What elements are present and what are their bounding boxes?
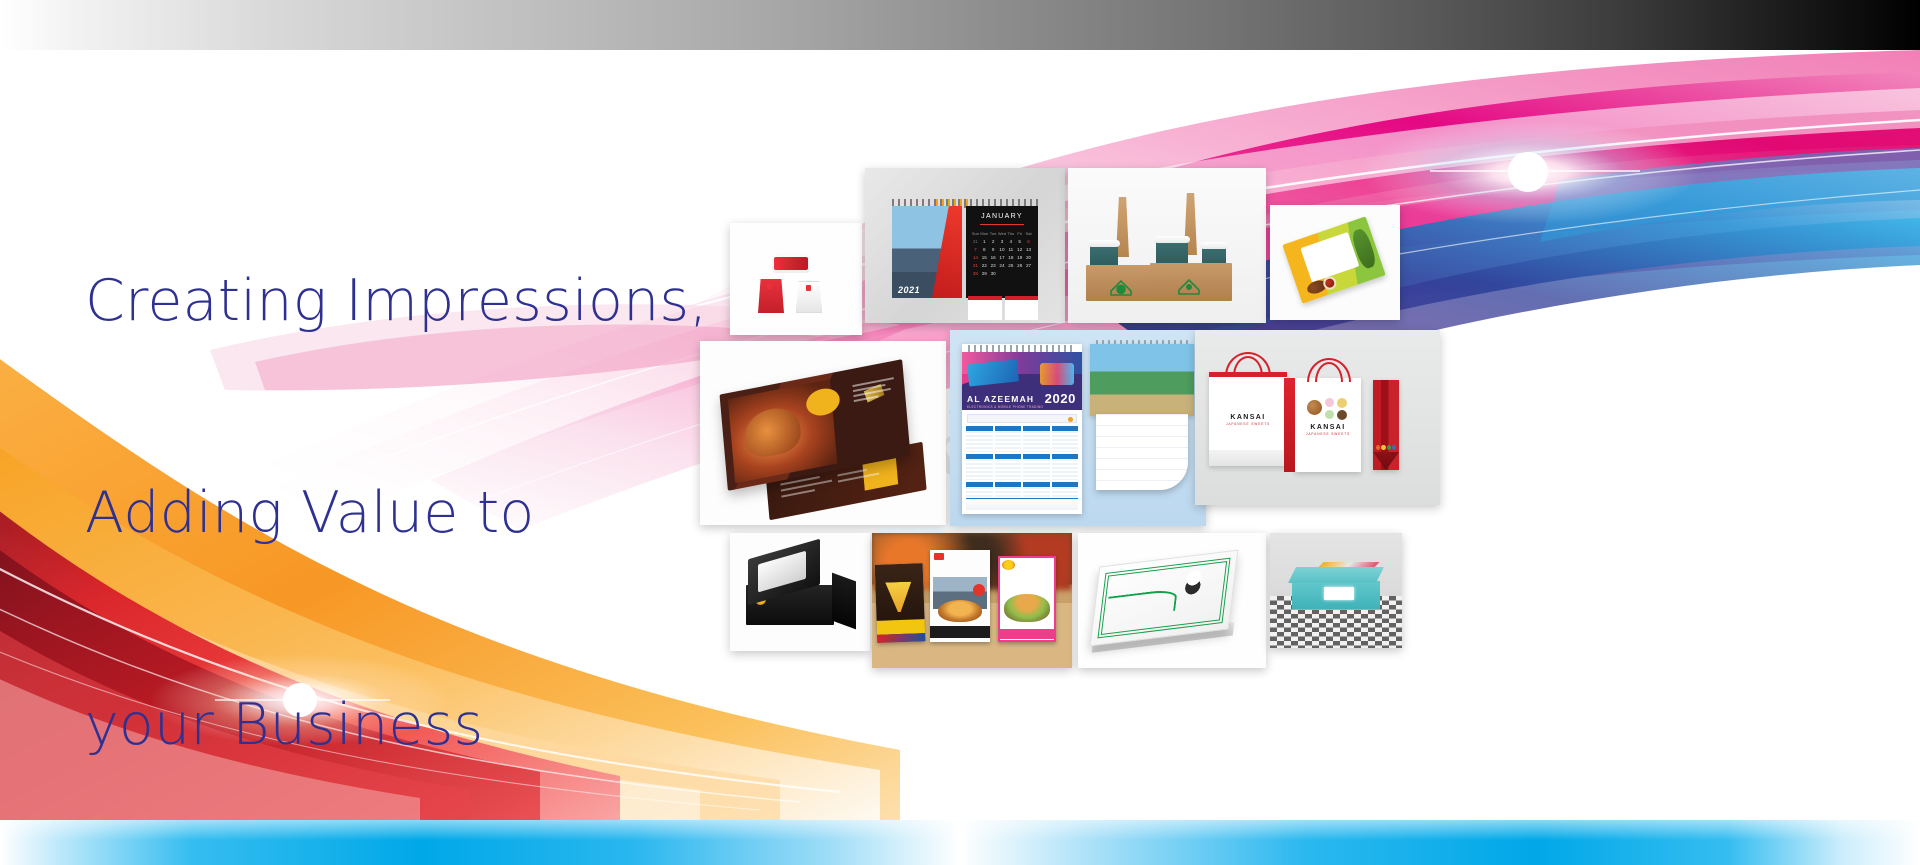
- desk-calendar-day: 31: [971, 238, 980, 245]
- wall-calendar-month-cell: [1052, 454, 1079, 480]
- desk-calendar-day: 3: [998, 238, 1007, 245]
- collage-item-cake-box[interactable]: [1270, 533, 1402, 648]
- collage-item-pizza-box[interactable]: [1078, 533, 1266, 668]
- bag-tagline-2: JAPANESE SWEETS: [1295, 432, 1361, 436]
- headline-line-2: Adding Value to: [85, 478, 708, 549]
- collage-item-wall-calendar[interactable]: AL AZEEMAH ELECTRONICS & MOBILE PHONE TR…: [950, 330, 1206, 526]
- wall-calendar-month-grid: [966, 426, 1078, 508]
- bag-tagline-1: JAPANESE SWEETS: [1209, 422, 1287, 426]
- desk-calendar-year: 2021: [898, 285, 920, 295]
- bag-brand-2: KANSAI: [1295, 424, 1361, 431]
- desk-calendar-divider: [980, 224, 1024, 225]
- desk-calendar-day: 22: [980, 262, 989, 269]
- desk-calendar-mini-months: [968, 296, 1038, 320]
- product-portfolio-collage: 2021 JANUARY SunMonTueWedThuFriSat311234…: [700, 155, 1460, 655]
- wall-calendar-month-dates: [1052, 459, 1079, 480]
- collage-item-table-tents[interactable]: WINTER ALLEGIANT REBEL AGAINST THE ORDIN…: [872, 533, 1072, 668]
- wall-calendar-month-cell: [995, 454, 1022, 480]
- desk-calendar-date-grid: SunMonTueWedThuFriSat3112345678910111213…: [971, 230, 1033, 277]
- wall-calendar-month-cell: [1023, 426, 1050, 452]
- collage-item-noodle-box[interactable]: [730, 223, 862, 335]
- desk-calendar-day: 1: [980, 238, 989, 245]
- desk-calendar-day: 2: [989, 238, 998, 245]
- collage-item-food-menu-box[interactable]: [700, 341, 946, 525]
- desk-calendar-month-label: JANUARY: [966, 213, 1038, 220]
- desk-calendar-day: 8: [980, 246, 989, 253]
- desk-calendar-day: 27: [1024, 262, 1033, 269]
- cake-box-label: [1324, 587, 1354, 600]
- black-window-box-artwork: [730, 533, 870, 651]
- cake-box-lid: [1288, 567, 1384, 583]
- desk-calendar-artwork: 2021 JANUARY SunMonTueWedThuFriSat311234…: [865, 168, 1065, 323]
- noodle-box-icon-white: [806, 285, 811, 291]
- wall-calendar-artwork: AL AZEEMAH ELECTRONICS & MOBILE PHONE TR…: [950, 330, 1206, 526]
- wall-calendar-month-dates: [966, 459, 993, 480]
- wall-calendar-header-art: AL AZEEMAH ELECTRONICS & MOBILE PHONE TR…: [962, 352, 1082, 410]
- wall-calendar-contact-bar: [967, 414, 1077, 423]
- collage-item-shopping-bags[interactable]: KANSAI JAPANESE SWEETS KANSAI: [1195, 330, 1440, 505]
- collage-item-window-food-box[interactable]: [1270, 205, 1400, 320]
- window-food-box-window: [1300, 232, 1359, 282]
- pizza-box-artwork: [1078, 533, 1266, 668]
- bag-sweet-icon-2: [1325, 398, 1334, 407]
- wall-calendar-brand: AL AZEEMAH: [967, 394, 1034, 404]
- desk-calendar-day: 14: [971, 254, 980, 261]
- food-menu-box-copy-lines: [852, 377, 895, 405]
- wall-calendar-month-cell: [1052, 426, 1079, 452]
- desk-calendar-day: 19: [1015, 254, 1024, 261]
- desk-calendar-day: 16: [989, 254, 998, 261]
- desk-calendar-day: 26: [1015, 262, 1024, 269]
- shopping-bag-gusset: [1373, 380, 1399, 470]
- desk-calendar-weekday: Thu: [1006, 230, 1015, 237]
- desk-calendar-day: 9: [989, 246, 998, 253]
- desk-calendar-day: 17: [998, 254, 1007, 261]
- shopping-bags-artwork: KANSAI JAPANESE SWEETS KANSAI: [1195, 330, 1440, 505]
- desk-calendar-weekday: Sat: [1024, 230, 1033, 237]
- noodle-box-label-band: [774, 257, 808, 270]
- shopping-bag-3d: KANSAI JAPANESE SWEETS: [1295, 378, 1361, 472]
- bag-sweet-icon-3: [1337, 398, 1347, 408]
- window-food-box-artwork: [1270, 205, 1400, 320]
- food-menu-box-artwork: [700, 341, 946, 525]
- window-food-box-shape: [1282, 216, 1385, 303]
- desk-calendar-weekday: Tue: [989, 230, 998, 237]
- shopping-bag-logo-1: KANSAI JAPANESE SWEETS: [1209, 414, 1287, 426]
- desk-calendar-weekday: Sun: [971, 230, 980, 237]
- bag-sweet-icon-4: [1325, 410, 1334, 419]
- scenic-calendar-photo: [1090, 344, 1194, 416]
- cake-box-ribbon: [1319, 562, 1380, 567]
- table-tents-artwork: WINTER ALLEGIANT REBEL AGAINST THE ORDIN…: [872, 533, 1072, 668]
- bottom-gradient-bar: [0, 820, 1920, 865]
- desk-calendar-day: 20: [1024, 254, 1033, 261]
- collage-item-cup-carrier[interactable]: ALBEERA: [1068, 168, 1266, 323]
- wall-calendar-subtitle: ELECTRONICS & MOBILE PHONE TRADING: [967, 405, 1043, 409]
- wall-calendar-spiral-binding: [968, 345, 1076, 352]
- shopping-bag-logo-2: KANSAI JAPANESE SWEETS: [1295, 424, 1361, 436]
- wall-calendar-sheet: AL AZEEMAH ELECTRONICS & MOBILE PHONE TR…: [962, 344, 1082, 514]
- collage-item-desk-calendar[interactable]: 2021 JANUARY SunMonTueWedThuFriSat311234…: [865, 168, 1065, 323]
- collage-item-black-window-box[interactable]: [730, 533, 870, 651]
- hero-banner: Creating Impressions, Adding Value to yo…: [0, 0, 1920, 865]
- wall-calendar-month-dates: [966, 431, 993, 452]
- wall-calendar-month-dates: [1052, 431, 1079, 452]
- desk-calendar-body: 2021 JANUARY SunMonTueWedThuFriSat311234…: [892, 206, 1038, 298]
- top-gradient-bar: [0, 0, 1920, 50]
- bag-sweet-icon-1: [1307, 400, 1322, 415]
- bag-brand-1: KANSAI: [1209, 414, 1287, 421]
- desk-calendar-day: 25: [1006, 262, 1015, 269]
- table-tent-card-1: WINTER: [875, 563, 926, 643]
- table-tent-card-2: ALLEGIANT REBEL AGAINST THE ORDINARY.: [930, 550, 990, 642]
- desk-calendar-day: 28: [971, 270, 980, 277]
- headline-line-1: Creating Impressions,: [85, 266, 708, 337]
- desk-calendar-day: 7: [971, 246, 980, 253]
- table-tent-card-3: LOOKING FOR A HEALTHY ALTERNATIVE? TRY T…: [998, 556, 1056, 642]
- desk-calendar-day: 10: [998, 246, 1007, 253]
- scenic-calendar-date-page: [1096, 414, 1188, 490]
- desk-calendar-day: 4: [1006, 238, 1015, 245]
- desk-calendar-day: 29: [980, 270, 989, 277]
- wall-calendar-month-cell: [966, 426, 993, 452]
- desk-calendar-day: 11: [1006, 246, 1015, 253]
- desk-calendar-day: 21: [971, 262, 980, 269]
- page-title: Creating Impressions, Adding Value to yo…: [85, 125, 708, 865]
- wall-calendar-month-dates: [1023, 431, 1050, 452]
- desk-calendar-day: 24: [998, 262, 1007, 269]
- desk-calendar-day: 18: [1006, 254, 1015, 261]
- desk-calendar-day: 15: [980, 254, 989, 261]
- noodle-box-artwork: [730, 223, 862, 335]
- wall-calendar-month-cell: [966, 454, 993, 480]
- desk-calendar-month-panel: JANUARY SunMonTueWedThuFriSat31123456789…: [966, 206, 1038, 298]
- desk-calendar-day: 12: [1015, 246, 1024, 253]
- desk-calendar-weekday: Mon: [980, 230, 989, 237]
- wall-calendar-month-cell: [1023, 454, 1050, 480]
- wall-calendar-month-cell: [995, 426, 1022, 452]
- scenic-wall-calendar: [1090, 344, 1194, 508]
- wall-calendar-year: 2020: [1045, 391, 1076, 406]
- wall-calendar-month-dates: [995, 459, 1022, 480]
- bag-sweet-icon-5: [1337, 410, 1347, 420]
- desk-calendar-day: 13: [1024, 246, 1033, 253]
- cake-box-body: [1292, 581, 1380, 609]
- cup-carrier-front: ALBEERA: [1150, 297, 1165, 301]
- cup-carrier-artwork: ALBEERA: [1068, 168, 1266, 323]
- desk-calendar-weekday: Fri: [1015, 230, 1024, 237]
- desk-calendar-weekday: Wed: [998, 230, 1007, 237]
- black-box-window: [758, 551, 806, 593]
- headline-line-3: your Business: [85, 690, 708, 761]
- wall-calendar-month-dates: [995, 431, 1022, 452]
- wall-calendar-month-dates: [1023, 459, 1050, 480]
- wall-calendar-footer: [966, 498, 1078, 510]
- desk-calendar-day: 30: [989, 270, 998, 277]
- desk-calendar-day: 6: [1024, 238, 1033, 245]
- desk-calendar-day: 23: [989, 262, 998, 269]
- noodle-box-icon-red: [767, 283, 772, 289]
- desk-calendar-photo-panel: 2021: [892, 206, 962, 298]
- cake-box-artwork: [1270, 533, 1402, 648]
- desk-calendar-day: 5: [1015, 238, 1024, 245]
- shopping-bag-flat: KANSAI JAPANESE SWEETS: [1209, 372, 1287, 466]
- pizza-box-chef-icon: [1177, 568, 1210, 598]
